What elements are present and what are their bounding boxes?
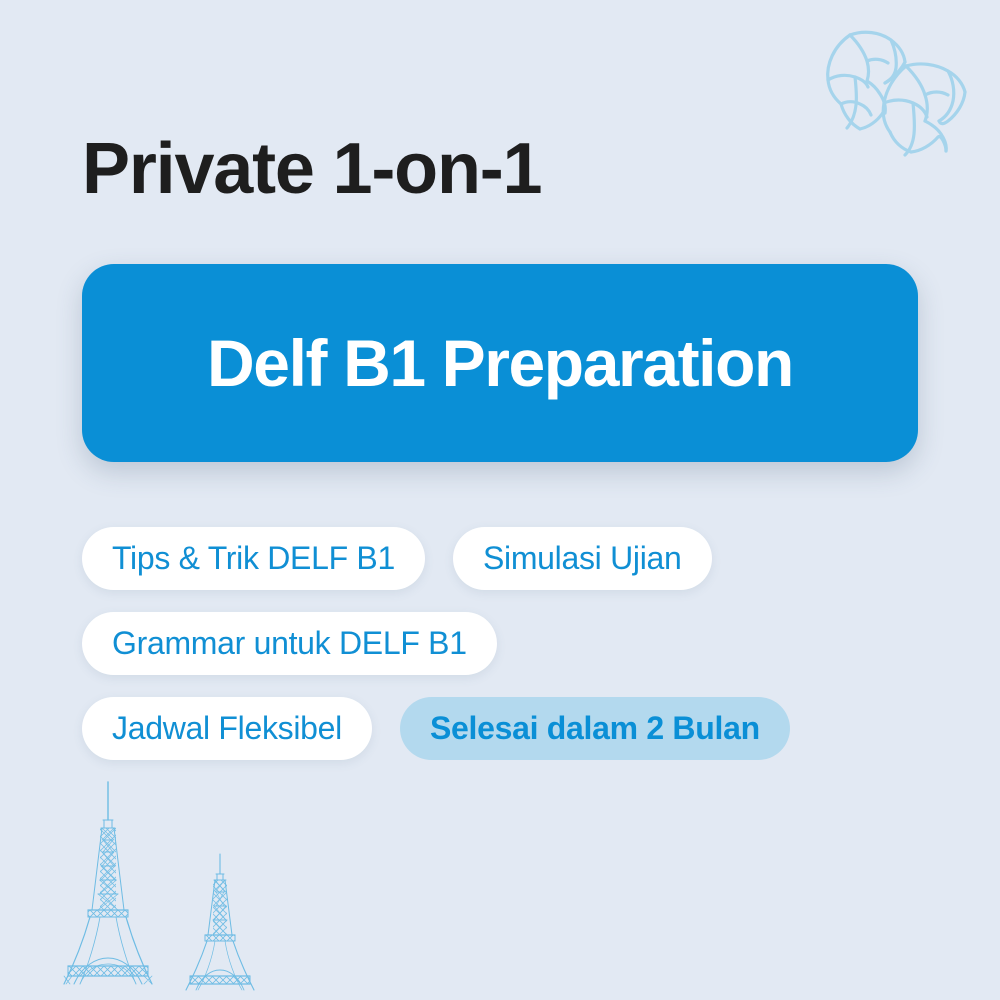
feature-pill-row: Grammar untuk DELF B1 xyxy=(82,612,962,675)
feature-pill-row: Jadwal Fleksibel Selesai dalam 2 Bulan xyxy=(82,697,962,760)
feature-pill[interactable]: Jadwal Fleksibel xyxy=(82,697,372,760)
feature-pill-highlighted[interactable]: Selesai dalam 2 Bulan xyxy=(400,697,790,760)
course-banner-title: Delf B1 Preparation xyxy=(207,325,793,401)
croissant-icon xyxy=(798,18,988,158)
page-title: Private 1-on-1 xyxy=(82,133,541,205)
eiffel-tower-icon xyxy=(48,770,348,1000)
feature-pill[interactable]: Simulasi Ujian xyxy=(453,527,712,590)
feature-pill[interactable]: Tips & Trik DELF B1 xyxy=(82,527,425,590)
feature-pill[interactable]: Grammar untuk DELF B1 xyxy=(82,612,497,675)
poster-canvas: Private 1-on-1 Delf B1 Preparation Tips … xyxy=(0,0,1000,1000)
feature-pill-list: Tips & Trik DELF B1 Simulasi Ujian Gramm… xyxy=(82,527,962,782)
feature-pill-row: Tips & Trik DELF B1 Simulasi Ujian xyxy=(82,527,962,590)
course-banner: Delf B1 Preparation xyxy=(82,264,918,462)
